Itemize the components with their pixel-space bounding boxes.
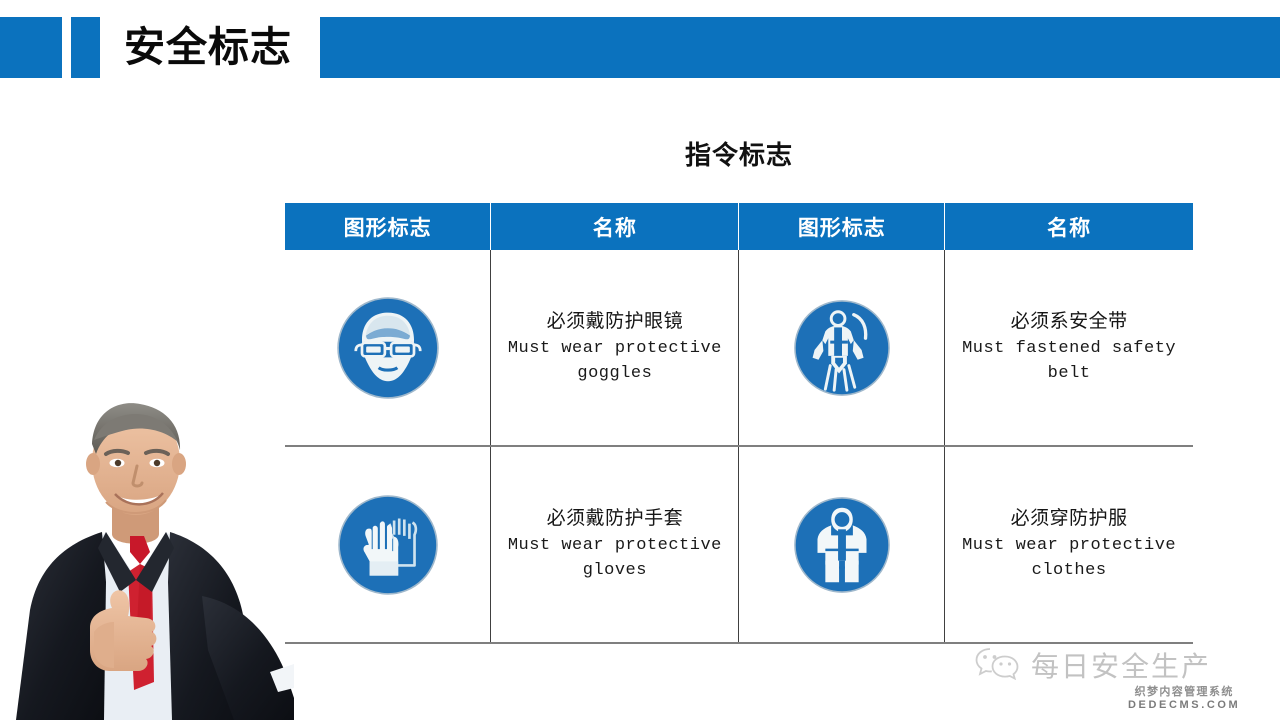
column-header-sign-1: 图形标志 (285, 203, 491, 250)
wechat-icon (975, 646, 1019, 685)
column-header-sign-2: 图形标志 (739, 203, 945, 250)
watermark-text: 每日安全生产 (1031, 645, 1211, 685)
name-cell-safety-belt: 必须系安全带 Must fastened safety belt (945, 250, 1193, 446)
table-row: 必须戴防护眼镜 Must wear protective goggles (285, 250, 1193, 446)
sign-name-en: Must fastened safety belt (945, 336, 1193, 387)
safety-sign-table: 图形标志 名称 图形标志 名称 (285, 203, 1193, 644)
dedecms-cn-text: 织梦内容管理系统 (1128, 686, 1240, 699)
slide-canvas: 安全标志 指令标志 图形标志 名称 图形标志 名称 (0, 0, 1280, 720)
sign-name-cn: 必须系安全带 (945, 308, 1193, 336)
presenter-photo (0, 382, 294, 720)
dedecms-en-text: DEDECMS.COM (1128, 699, 1240, 712)
protective-goggles-sign-icon (285, 296, 490, 400)
sign-name-cn: 必须穿防护服 (945, 505, 1193, 533)
table-header-row: 图形标志 名称 图形标志 名称 (285, 203, 1193, 250)
sign-name-en: Must wear protective gloves (491, 533, 738, 584)
column-header-name-2: 名称 (945, 203, 1193, 250)
name-cell-goggles: 必须戴防护眼镜 Must wear protective goggles (491, 250, 739, 446)
sign-cell-gloves (285, 446, 491, 643)
dedecms-watermark: 织梦内容管理系统 DEDECMS.COM (1128, 686, 1240, 712)
sign-name-en: Must wear protective goggles (491, 336, 738, 387)
sign-name-en: Must wear protective clothes (945, 533, 1193, 584)
column-header-name-1: 名称 (491, 203, 739, 250)
header-accent-block-left (0, 17, 62, 78)
sign-name-cn: 必须戴防护手套 (491, 505, 738, 533)
name-cell-protective-clothes: 必须穿防护服 Must wear protective clothes (945, 446, 1193, 643)
protective-clothes-sign-icon (739, 496, 944, 594)
header-accent-bar-right (320, 17, 1280, 78)
name-cell-gloves: 必须戴防护手套 Must wear protective gloves (491, 446, 739, 643)
sign-cell-goggles (285, 250, 491, 446)
sign-name-cn: 必须戴防护眼镜 (491, 308, 738, 336)
sign-cell-safety-belt (739, 250, 945, 446)
wechat-watermark: 每日安全生产 (975, 645, 1211, 685)
sign-cell-protective-clothes (739, 446, 945, 643)
table-row: 必须戴防护手套 Must wear protective gloves (285, 446, 1193, 643)
protective-gloves-sign-icon (285, 494, 490, 596)
section-title: 指令标志 (285, 135, 1193, 172)
page-title: 安全标志 (124, 15, 320, 79)
safety-belt-sign-icon (739, 299, 944, 397)
header-accent-block-small (71, 17, 100, 78)
